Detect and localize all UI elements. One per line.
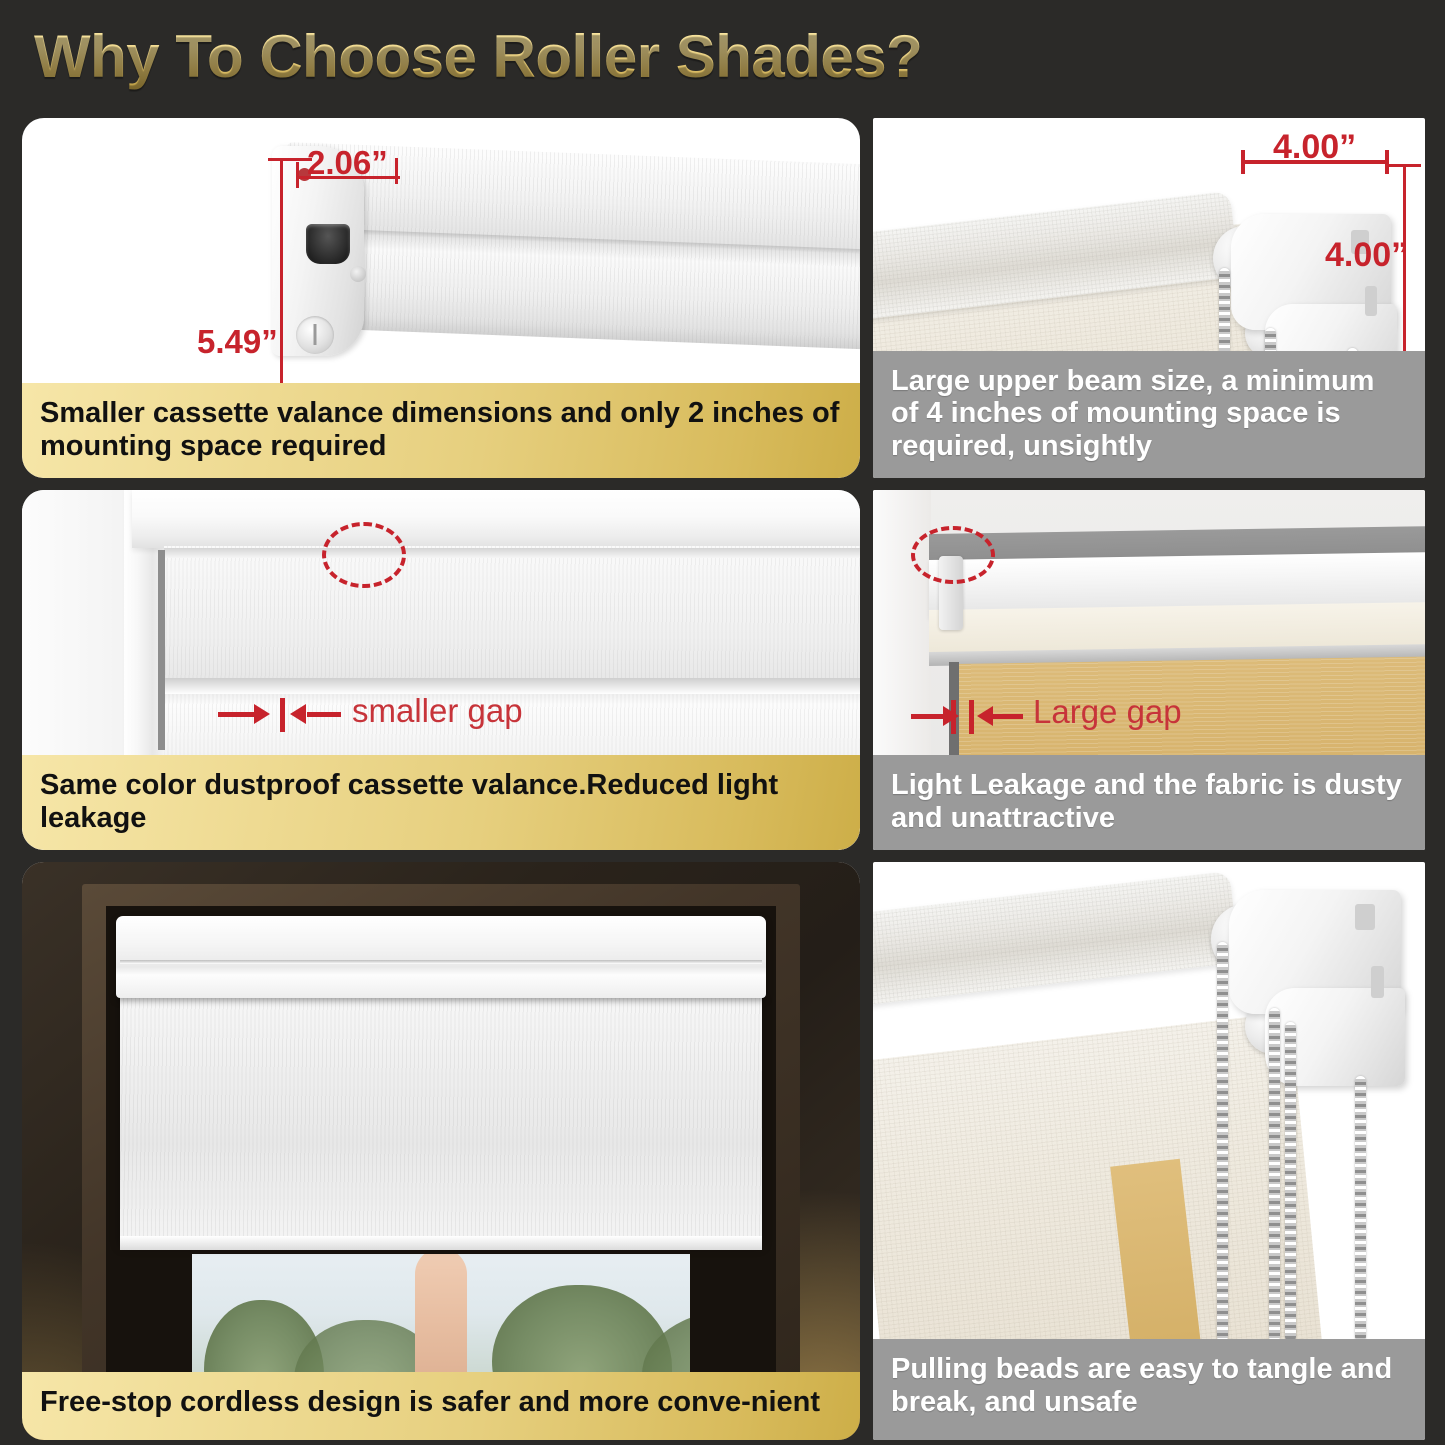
- panel-caption: Pulling beads are easy to tangle and bre…: [873, 1339, 1425, 1440]
- width-dimension-label: 2.06”: [307, 144, 388, 182]
- photo-bead-chain-roller: Pulling beads are easy to tangle and bre…: [873, 862, 1425, 1440]
- small-gap-label: smaller gap: [352, 692, 523, 730]
- window-opening: [106, 906, 776, 1440]
- gap-marker-line-1: [951, 700, 956, 734]
- bead-chain-left[interactable]: [1217, 942, 1228, 1342]
- gap-marker-line-2: [969, 700, 974, 734]
- panel-caption: Same color dustproof cassette valance.Re…: [22, 755, 860, 850]
- beam-height-tick-top: [1385, 164, 1421, 167]
- shade-fabric: [873, 1012, 1322, 1390]
- gap-arrow-left-shaft: [911, 714, 945, 719]
- bead-chain-right[interactable]: [1355, 1076, 1366, 1342]
- bead-chain-middle[interactable]: [1269, 1008, 1280, 1342]
- height-dim-tick-top: [268, 158, 312, 161]
- page-title: Why To Choose Roller Shades?: [34, 22, 922, 91]
- page-header: Why To Choose Roller Shades?: [0, 0, 1445, 112]
- panel-light-leakage[interactable]: Large gap Light Leakage and the fabric i…: [873, 490, 1425, 850]
- shade-hem-bar: [120, 1236, 762, 1250]
- roller-slot: [306, 224, 350, 264]
- beam-width-tick-right: [1385, 150, 1389, 174]
- small-screw: [350, 266, 366, 282]
- panel-large-beam[interactable]: 4.00” 4.00” Large upper beam size, a min…: [873, 118, 1425, 478]
- window-frame: [82, 884, 800, 1440]
- beam-width-label: 4.00”: [1273, 128, 1356, 167]
- panel-caption: Free-stop cordless design is safer and m…: [22, 1372, 860, 1440]
- gap-arrow-right-shaft: [307, 712, 341, 717]
- gap-arrow-right-head: [977, 706, 993, 726]
- bracket-slot-2: [1371, 966, 1384, 998]
- panel-pulling-beads[interactable]: Pulling beads are easy to tangle and bre…: [873, 862, 1425, 1440]
- gap-arrow-right-shaft: [993, 714, 1023, 719]
- photo-cassette-valance: 5.49” 2.06” Smaller cassette valance dim…: [22, 118, 860, 478]
- photo-room-window-scene: Free-stop cordless design is safer and m…: [22, 862, 860, 1440]
- beam-width-tick-left: [1241, 150, 1245, 174]
- gap-arrow-right-head: [290, 704, 306, 724]
- screw-head: [296, 316, 334, 354]
- panel-dustproof-valance[interactable]: smaller gap Same color dustproof cassett…: [22, 490, 860, 850]
- photo-small-gap-window: smaller gap Same color dustproof cassett…: [22, 490, 860, 850]
- panel-caption: Light Leakage and the fabric is dusty an…: [873, 755, 1425, 850]
- bead-chain-middle-2[interactable]: [1285, 1022, 1296, 1342]
- tube-weave: [873, 871, 1240, 1008]
- small-gap-line: [158, 550, 165, 750]
- gap-marker-line: [280, 698, 285, 732]
- panel-caption: Large upper beam size, a minimum of 4 in…: [873, 351, 1425, 478]
- gap-arrow-left-head: [254, 704, 270, 724]
- panel-cordless-design[interactable]: Free-stop cordless design is safer and m…: [22, 862, 860, 1440]
- panel-caption: Smaller cassette valance dimensions and …: [22, 383, 860, 478]
- fabric-weave: [873, 1012, 1322, 1390]
- window-head-casing: [132, 490, 860, 548]
- gap-arrow-left-shaft: [218, 712, 256, 717]
- gap-highlight-ellipse: [911, 526, 995, 584]
- valance-top-rail: [164, 548, 860, 558]
- bracket-slot-2: [1365, 286, 1377, 316]
- photo-large-beam-roller: 4.00” 4.00” Large upper beam size, a min…: [873, 118, 1425, 478]
- cassette-valance: [116, 916, 766, 998]
- photo-large-gap-window: Large gap Light Leakage and the fabric i…: [873, 490, 1425, 850]
- shade-fabric-texture: [120, 994, 762, 1244]
- width-dim-tick-left: [296, 162, 299, 188]
- gap-highlight-ellipse: [322, 522, 406, 588]
- bracket-slot-1: [1355, 904, 1375, 930]
- width-dim-tick-right: [395, 158, 398, 184]
- comparison-grid: 5.49” 2.06” Smaller cassette valance dim…: [0, 112, 1445, 1445]
- panel-smaller-cassette[interactable]: 5.49” 2.06” Smaller cassette valance dim…: [22, 118, 860, 478]
- rolled-fabric-tube: [873, 871, 1240, 1008]
- beam-height-label: 4.00”: [1325, 236, 1408, 275]
- large-gap-label: Large gap: [1033, 693, 1182, 731]
- height-dimension-label: 5.49”: [197, 323, 278, 361]
- shade-fabric: [120, 994, 762, 1244]
